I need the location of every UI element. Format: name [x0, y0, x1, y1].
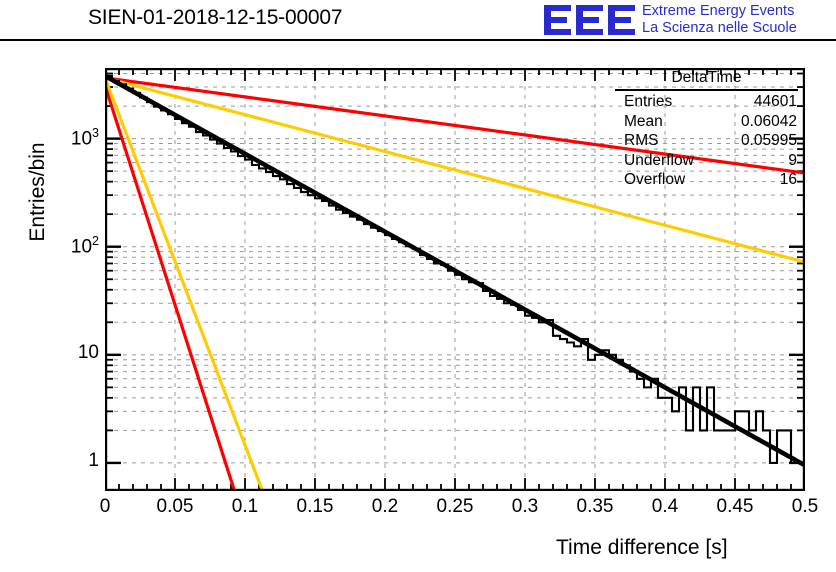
- y-tick-label: 10: [78, 342, 99, 364]
- stats-value: 9: [788, 151, 797, 171]
- stats-title: DeltaTime: [614, 68, 799, 89]
- eee-logo-line2: La Scienza nelle Scuole: [642, 20, 797, 37]
- stats-key: Mean: [624, 112, 663, 132]
- x-tick-label: 0.05: [157, 496, 194, 518]
- component-line-yellow-steep: [105, 78, 263, 491]
- stats-key: Overflow: [624, 170, 685, 190]
- stats-row: Mean0.06042: [614, 112, 799, 132]
- stats-key: Entries: [624, 92, 672, 112]
- stats-row: RMS0.05995: [614, 131, 799, 151]
- y-tick-label: 1: [88, 450, 99, 472]
- x-axis-title: Time difference [s]: [556, 536, 728, 560]
- header-divider: [0, 39, 836, 41]
- eee-logo: Extreme Energy Events La Scienza nelle S…: [544, 2, 836, 42]
- x-tick-label: 0.4: [652, 496, 678, 518]
- stats-row: Underflow9: [614, 151, 799, 171]
- x-tick-label: 0.35: [577, 496, 614, 518]
- stats-divider: [615, 89, 798, 91]
- eee-logo-line1: Extreme Energy Events: [642, 3, 797, 20]
- stats-value: 0.06042: [741, 112, 797, 132]
- y-tick-label: 103: [71, 126, 99, 150]
- eee-logo-text: Extreme Energy Events La Scienza nelle S…: [642, 3, 797, 37]
- x-tick-label: 0.25: [437, 496, 474, 518]
- stats-row: Entries44601: [614, 92, 799, 112]
- stats-key: Underflow: [624, 151, 694, 171]
- stats-rows: Entries44601Mean0.06042RMS0.05995Underfl…: [614, 92, 799, 190]
- eee-logo-mark: [544, 5, 636, 35]
- y-axis-tick-labels: 110102103: [0, 0, 99, 572]
- stats-row: Overflow16: [614, 170, 799, 190]
- x-tick-label: 0.2: [372, 496, 398, 518]
- x-tick-label: 0: [100, 496, 111, 518]
- stats-value: 16: [780, 170, 797, 190]
- x-tick-label: 0.45: [717, 496, 754, 518]
- stats-box: DeltaTime Entries44601Mean0.06042RMS0.05…: [614, 68, 799, 190]
- x-tick-label: 0.5: [792, 496, 818, 518]
- x-tick-label: 0.15: [297, 496, 334, 518]
- x-tick-label: 0.3: [512, 496, 538, 518]
- stats-value: 0.05995: [741, 131, 797, 151]
- x-tick-label: 0.1: [232, 496, 258, 518]
- y-tick-label: 102: [71, 234, 99, 258]
- page-title: SIEN-01-2018-12-15-00007: [88, 6, 342, 30]
- stats-value: 44601: [754, 92, 797, 112]
- stats-key: RMS: [624, 131, 658, 151]
- root-canvas: SIEN-01-2018-12-15-00007 Extreme Energy …: [0, 0, 836, 572]
